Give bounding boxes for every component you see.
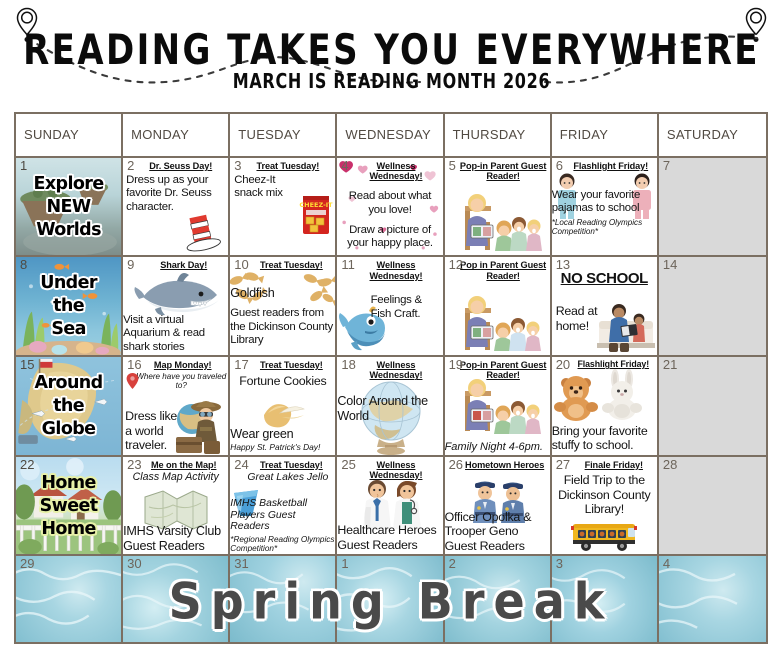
day-cell-apr-4[interactable]: 4 xyxy=(659,556,766,642)
day-cell-4[interactable]: 4 Wellness Wednesday! Read about what yo… xyxy=(337,158,444,256)
date-number: 4 xyxy=(341,159,348,172)
day-text: Field Trip to the Dickinson County Libra… xyxy=(554,473,655,517)
date-number: 13 xyxy=(556,258,570,271)
day-cell-25[interactable]: 25 Wellness Wednesday! xyxy=(337,457,444,555)
calendar-week-row: 8 Under the Sea 9 Shark Day! xyxy=(16,257,766,357)
date-number: 12 xyxy=(449,258,463,271)
day-cell-27[interactable]: 27 Finale Friday! Field Trip to the Dick… xyxy=(552,457,659,555)
date-number: 19 xyxy=(449,358,463,371)
day-cell-6[interactable]: 6 Flashlight Friday! Wear y xyxy=(552,158,659,256)
day-header-tuesday: TUESDAY xyxy=(230,114,337,156)
day-header-friday: FRIDAY xyxy=(552,114,659,156)
day-cell-13[interactable]: 13 NO SCHOOL Read at home! xyxy=(552,257,659,355)
day-cell-30[interactable]: 30 xyxy=(123,556,230,642)
water-texture-image xyxy=(552,556,657,642)
date-number: 3 xyxy=(556,557,563,570)
parent-reading-to-kids-icon xyxy=(451,379,547,437)
day-cell-24[interactable]: 24 Treat Tuesday! Great Lakes Jello IMHS… xyxy=(230,457,337,555)
cat-in-the-hat-icon xyxy=(180,214,224,254)
day-cell-3[interactable]: 3 Treat Tuesday! Cheez-It snack mix CHEE… xyxy=(230,158,337,256)
day-text: Dress up as your favorite Dr. Seuss char… xyxy=(125,174,226,214)
day-cell-28[interactable]: 28 xyxy=(659,457,766,555)
day-cell-apr-2[interactable]: 2 xyxy=(445,556,552,642)
day-text: Cheez-It snack mix xyxy=(232,174,296,201)
day-text: Visit a virtual Aquarium & read shark st… xyxy=(123,314,228,354)
parent-child-reading-icon xyxy=(595,299,657,355)
day-note: Happy St. Patrick's Day! xyxy=(230,443,335,452)
day-text: Read about what you love! xyxy=(339,190,440,217)
map-pin-icon xyxy=(126,372,139,390)
date-number: 22 xyxy=(20,458,34,471)
day-heading: Map Monday! xyxy=(139,360,226,370)
teddy-bear-and-bunny-icon xyxy=(554,373,656,421)
day-heading: Shark Day! xyxy=(141,260,226,270)
water-texture-image xyxy=(659,556,766,642)
date-number: 4 xyxy=(663,557,670,570)
day-cell-11[interactable]: 11 Wellness Wednesday! Feelings & Fish C… xyxy=(337,257,444,355)
day-text-secondary: Guest readers from the Dickinson County … xyxy=(230,307,335,347)
day-note-secondary: IMHS Basketball Players Guest Readers xyxy=(230,498,335,533)
day-cell-18[interactable]: 18 Wellness Wednesday! Color Around the … xyxy=(337,357,444,455)
day-text: Officer Opolka & Trooper Geno Guest Read… xyxy=(445,510,550,554)
day-heading: Wellness Wednesday! xyxy=(351,161,440,182)
day-note: Class Map Activity xyxy=(125,472,226,484)
day-note-tertiary: *Regional Reading Olympics Competition* xyxy=(230,535,335,553)
date-number: 26 xyxy=(449,458,463,471)
calendar-week-row: 15 Around the Globe 16 Map Monday! Where… xyxy=(16,357,766,457)
date-number: 15 xyxy=(20,358,34,371)
day-cell-apr-3[interactable]: 3 xyxy=(552,556,659,642)
day-cell-5[interactable]: 5 Pop-in Parent Guest Reader! xyxy=(445,158,552,256)
day-cell-7[interactable]: 7 xyxy=(659,158,766,256)
day-text-secondary: Draw a picture of your happy place. xyxy=(339,224,440,251)
date-number: 31 xyxy=(234,557,248,570)
day-cell-10[interactable]: 10 Treat Tuesday! Goldfish Guest re xyxy=(230,257,337,355)
date-number: 5 xyxy=(449,159,456,172)
day-text: Feelings & Fish Craft. xyxy=(371,294,441,321)
day-text: Goldfish xyxy=(230,286,335,301)
no-school-label: NO SCHOOL xyxy=(554,270,655,287)
calendar-header: READING TAKES YOU EVERYWHERE MARCH IS RE… xyxy=(0,0,783,108)
day-cell-21[interactable]: 21 xyxy=(659,357,766,455)
day-text: Fortune Cookies xyxy=(232,374,333,389)
date-number: 6 xyxy=(556,159,563,172)
day-of-week-row: SUNDAY MONDAY TUESDAY WEDNESDAY THURSDAY… xyxy=(16,114,766,158)
day-header-wednesday: WEDNESDAY xyxy=(337,114,444,156)
day-heading: Pop-in Parent Guest Reader! xyxy=(459,360,548,381)
water-texture-image xyxy=(445,556,550,642)
day-text: Wear your favorite pajamas to school xyxy=(552,189,657,216)
svg-text:CHEEZ-IT: CHEEZ-IT xyxy=(300,201,334,209)
date-number: 2 xyxy=(127,159,134,172)
day-cell-14[interactable]: 14 xyxy=(659,257,766,355)
page-subtitle: MARCH IS READING MONTH 2026 xyxy=(0,69,783,93)
day-note: Family Night 4-6pm. xyxy=(445,441,550,453)
date-number: 8 xyxy=(20,258,27,271)
day-heading: Finale Friday! xyxy=(573,460,655,470)
date-number: 14 xyxy=(663,258,677,271)
day-cell-26[interactable]: 26 Hometown Heroes xyxy=(445,457,552,555)
day-cell-apr-1[interactable]: 1 xyxy=(337,556,444,642)
day-cell-29[interactable]: 29 xyxy=(16,556,123,642)
date-number: 9 xyxy=(127,258,134,271)
water-texture-image xyxy=(337,556,442,642)
date-number: 29 xyxy=(20,557,34,570)
shark-icon xyxy=(133,273,221,315)
day-cell-16[interactable]: 16 Map Monday! Where have you traveled t… xyxy=(123,357,230,455)
calendar-grid: SUNDAY MONDAY TUESDAY WEDNESDAY THURSDAY… xyxy=(14,112,768,644)
school-bus-icon xyxy=(570,519,642,553)
day-heading: Treat Tuesday! xyxy=(242,161,333,171)
doctors-icon xyxy=(351,477,431,529)
parent-reading-to-kids-icon xyxy=(451,192,547,254)
day-cell-20[interactable]: 20 Flashlight Friday! xyxy=(552,357,659,455)
date-number: 7 xyxy=(663,159,670,172)
day-heading: Treat Tuesday! xyxy=(249,460,333,470)
day-heading: Pop in Parent Guest Reader! xyxy=(459,260,548,281)
date-number: 20 xyxy=(556,358,570,371)
day-cell-12[interactable]: 12 Pop in Parent Guest Reader! xyxy=(445,257,552,355)
date-number: 2 xyxy=(449,557,456,570)
day-heading: Pop-in Parent Guest Reader! xyxy=(459,161,548,182)
date-number: 24 xyxy=(234,458,248,471)
day-cell-17[interactable]: 17 Treat Tuesday! Fortune Cookies Wear g… xyxy=(230,357,337,455)
day-cell-2[interactable]: 2 Dr. Seuss Day! Dress up as your favori… xyxy=(123,158,230,256)
day-text: Color Around the World xyxy=(337,394,442,423)
day-header-sunday: SUNDAY xyxy=(16,114,123,156)
day-heading: Me on the Map! xyxy=(141,460,226,470)
parent-reading-to-kids-icon xyxy=(451,294,547,354)
day-text: Dress like a world traveler. xyxy=(125,409,183,453)
day-cell-15[interactable]: 15 Around the Globe xyxy=(16,357,123,455)
page-title: READING TAKES YOU EVERYWHERE xyxy=(0,26,783,75)
day-heading: Wellness Wednesday! xyxy=(351,260,440,281)
date-number: 28 xyxy=(663,458,677,471)
date-number: 3 xyxy=(234,159,241,172)
theme-label: Under the Sea xyxy=(16,257,121,355)
day-text: Healthcare Heroes Guest Readers xyxy=(337,523,442,552)
day-cell-31[interactable]: 31 xyxy=(230,556,337,642)
day-cell-22[interactable]: 22 Home Sweet Home xyxy=(16,457,123,555)
day-header-monday: MONDAY xyxy=(123,114,230,156)
cheez-it-bag-icon: CHEEZ-IT xyxy=(299,193,333,237)
date-number: 16 xyxy=(127,358,141,371)
day-cell-8[interactable]: 8 Under the Sea xyxy=(16,257,123,355)
spring-break-week-row: 29 30 xyxy=(16,556,766,642)
day-cell-1[interactable]: 1 Explore NEW Worlds xyxy=(16,158,123,256)
day-header-thursday: THURSDAY xyxy=(445,114,552,156)
day-note: *Local Reading Olympics Competition* xyxy=(552,218,657,236)
date-number: 21 xyxy=(663,358,677,371)
day-heading: Flashlight Friday! xyxy=(572,360,655,370)
date-number: 27 xyxy=(556,458,570,471)
date-number: 11 xyxy=(341,258,355,271)
day-heading: Hometown Heroes xyxy=(462,460,548,470)
date-number: 30 xyxy=(127,557,141,570)
day-cell-19[interactable]: 19 Pop-in Parent Guest Reader! xyxy=(445,357,552,455)
date-number: 1 xyxy=(20,159,27,172)
date-number: 17 xyxy=(234,358,248,371)
day-text: Read at home! xyxy=(556,304,600,333)
day-text: Bring your favorite stuffy to school. xyxy=(552,424,657,453)
date-number: 18 xyxy=(341,358,355,371)
calendar-week-row: 22 Home Sweet Home 23 Me on the Map! Cla… xyxy=(16,457,766,557)
date-number: 1 xyxy=(341,557,348,570)
day-text-secondary: IMHS Varsity Club Guest Readers xyxy=(123,524,228,553)
day-cell-23[interactable]: 23 Me on the Map! Class Map Activity IMH… xyxy=(123,457,230,555)
date-number: 23 xyxy=(127,458,141,471)
date-number: 25 xyxy=(341,458,355,471)
calendar-week-row: 1 Explore NEW Worlds 2 Dr. Seuss Day! Dr… xyxy=(16,158,766,258)
day-note: Where have you traveled to? xyxy=(136,372,226,390)
day-heading: Treat Tuesday! xyxy=(249,360,333,370)
day-heading: Dr. Seuss Day! xyxy=(135,161,226,171)
date-number: 10 xyxy=(234,258,248,271)
day-header-saturday: SATURDAY xyxy=(659,114,766,156)
day-text-secondary: Wear green xyxy=(230,427,335,442)
day-note: Great Lakes Jello xyxy=(242,472,333,484)
day-heading: Flashlight Friday! xyxy=(567,161,655,171)
theme-label: Explore NEW Worlds xyxy=(16,158,121,256)
day-cell-9[interactable]: 9 Shark Day! Visit a virtual Aquarium & … xyxy=(123,257,230,355)
